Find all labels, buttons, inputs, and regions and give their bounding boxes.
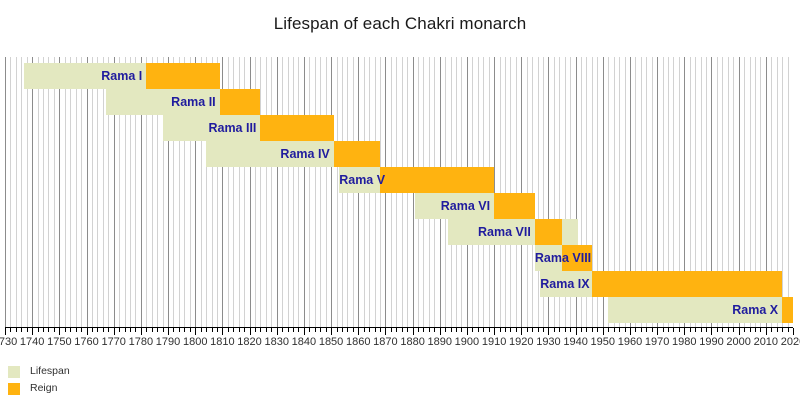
tick-minor (478, 328, 479, 332)
legend-item[interactable]: Reign (8, 380, 208, 397)
tick-major (766, 328, 767, 335)
tick-minor (750, 328, 751, 332)
lifespan-segment[interactable] (608, 297, 793, 323)
tick-minor (755, 328, 756, 332)
tick-major (358, 328, 359, 335)
tick-minor (48, 328, 49, 332)
plot-area: Rama IRama IIRama IIIRama IVRama VRama V… (5, 57, 793, 327)
tick-minor (179, 328, 180, 332)
tick-minor (65, 328, 66, 332)
tick-major (59, 328, 60, 335)
tick-minor (38, 328, 39, 332)
tick-minor (228, 328, 229, 332)
tick-label: 1880 (400, 336, 424, 348)
reign-segment[interactable] (334, 141, 380, 167)
tick-minor (668, 328, 669, 332)
tick-label: 1860 (346, 336, 370, 348)
tick-major (711, 328, 712, 335)
tick-label: 1760 (74, 336, 98, 348)
tick-label: 1970 (645, 336, 669, 348)
tick-major (467, 328, 468, 335)
tick-minor (364, 328, 365, 332)
tick-major (141, 328, 142, 335)
tick-minor (451, 328, 452, 332)
tick-label: 2000 (726, 336, 750, 348)
reign-segment[interactable] (562, 245, 592, 271)
tick-minor (135, 328, 136, 332)
tick-major (195, 328, 196, 335)
tick-minor (92, 328, 93, 332)
tick-minor (472, 328, 473, 332)
tick-label: 1930 (536, 336, 560, 348)
tick-label: 1850 (319, 336, 343, 348)
tick-minor (592, 328, 593, 332)
x-axis-tick-labels: 1730174017501760177017801790180018101820… (0, 336, 800, 352)
tick-label: 1980 (672, 336, 696, 348)
tick-minor (570, 328, 571, 332)
tick-label: 1940 (563, 336, 587, 348)
reign-segment[interactable] (146, 63, 219, 89)
tick-minor (423, 328, 424, 332)
tick-minor (76, 328, 77, 332)
legend-label: Reign (30, 380, 57, 397)
tick-minor (43, 328, 44, 332)
timeline-bar-row[interactable]: Rama IV (206, 141, 380, 167)
tick-label: 1740 (20, 336, 44, 348)
tick-minor (173, 328, 174, 332)
tick-minor (97, 328, 98, 332)
timeline-bar-row[interactable]: Rama VI (415, 193, 535, 219)
tick-minor (510, 328, 511, 332)
tick-label: 1910 (482, 336, 506, 348)
tick-minor (586, 328, 587, 332)
tick-minor (130, 328, 131, 332)
tick-minor (293, 328, 294, 332)
tick-major (250, 328, 251, 335)
tick-label: 1950 (591, 336, 615, 348)
tick-minor (690, 328, 691, 332)
tick-label: 1780 (129, 336, 153, 348)
legend-swatch (8, 383, 20, 395)
tick-minor (461, 328, 462, 332)
chart-title: Lifespan of each Chakri monarch (0, 14, 800, 34)
tick-minor (663, 328, 664, 332)
tick-minor (418, 328, 419, 332)
tick-minor (581, 328, 582, 332)
tick-label: 1890 (428, 336, 452, 348)
tick-minor (201, 328, 202, 332)
tick-minor (10, 328, 11, 332)
timeline-bar-row[interactable]: Rama III (163, 115, 334, 141)
tick-minor (271, 328, 272, 332)
reign-segment[interactable] (592, 271, 782, 297)
tick-minor (337, 328, 338, 332)
tick-minor (641, 328, 642, 332)
tick-label: 1920 (509, 336, 533, 348)
tick-minor (119, 328, 120, 332)
tick-minor (445, 328, 446, 332)
tick-minor (298, 328, 299, 332)
tick-minor (190, 328, 191, 332)
tick-minor (320, 328, 321, 332)
tick-minor (326, 328, 327, 332)
tick-minor (402, 328, 403, 332)
tick-major (684, 328, 685, 335)
reign-segment[interactable] (260, 115, 333, 141)
timeline-bar-row[interactable]: Rama I (24, 63, 220, 89)
tick-minor (722, 328, 723, 332)
legend-swatch (8, 366, 20, 378)
tick-minor (146, 328, 147, 332)
tick-minor (532, 328, 533, 332)
tick-minor (695, 328, 696, 332)
tick-minor (673, 328, 674, 332)
tick-major (277, 328, 278, 335)
tick-major (494, 328, 495, 335)
legend-item[interactable]: Lifespan (8, 363, 208, 380)
tick-minor (282, 328, 283, 332)
tick-major (385, 328, 386, 335)
tick-label: 1830 (264, 336, 288, 348)
tick-major (413, 328, 414, 335)
tick-minor (505, 328, 506, 332)
tick-minor (309, 328, 310, 332)
tick-minor (255, 328, 256, 332)
tick-minor (679, 328, 680, 332)
tick-label: 1800 (183, 336, 207, 348)
tick-label: 1840 (292, 336, 316, 348)
tick-minor (233, 328, 234, 332)
tick-label: 2020 (781, 336, 800, 348)
tick-minor (315, 328, 316, 332)
tick-minor (777, 328, 778, 332)
timeline-bar-row[interactable]: Rama IX (540, 271, 782, 297)
tick-major (5, 328, 6, 335)
tick-minor (565, 328, 566, 332)
tick-minor (103, 328, 104, 332)
tick-minor (152, 328, 153, 332)
tick-major (576, 328, 577, 335)
tick-major (331, 328, 332, 335)
tick-minor (483, 328, 484, 332)
timeline-bar-row[interactable]: Rama V (339, 167, 494, 193)
tick-minor (81, 328, 82, 332)
tick-minor (260, 328, 261, 332)
tick-minor (760, 328, 761, 332)
reign-segment[interactable] (220, 89, 261, 115)
tick-minor (652, 328, 653, 332)
tick-minor (125, 328, 126, 332)
tick-minor (212, 328, 213, 332)
tick-label: 1900 (455, 336, 479, 348)
chart-legend: LifespanReign (8, 363, 208, 397)
timeline-bar-row[interactable]: Rama X (608, 297, 793, 323)
timeline-bar-row[interactable]: Rama VII (448, 219, 578, 245)
timeline-bar-row[interactable]: Rama II (106, 89, 261, 115)
tick-minor (244, 328, 245, 332)
tick-major (603, 328, 604, 335)
tick-minor (744, 328, 745, 332)
tick-major (630, 328, 631, 335)
tick-minor (527, 328, 528, 332)
tick-minor (429, 328, 430, 332)
tick-minor (375, 328, 376, 332)
tick-minor (434, 328, 435, 332)
tick-major (114, 328, 115, 335)
tick-minor (701, 328, 702, 332)
tick-minor (733, 328, 734, 332)
tick-label: 1960 (618, 336, 642, 348)
tick-label: 1790 (156, 336, 180, 348)
tick-minor (559, 328, 560, 332)
tick-minor (782, 328, 783, 332)
tick-label: 1810 (210, 336, 234, 348)
tick-label: 1820 (237, 336, 261, 348)
tick-minor (635, 328, 636, 332)
tick-minor (54, 328, 55, 332)
tick-minor (380, 328, 381, 332)
tick-label: 1750 (47, 336, 71, 348)
tick-minor (619, 328, 620, 332)
tick-minor (728, 328, 729, 332)
tick-label: 1730 (0, 336, 17, 348)
tick-minor (614, 328, 615, 332)
reign-segment[interactable] (782, 297, 793, 323)
tick-minor (239, 328, 240, 332)
tick-minor (456, 328, 457, 332)
tick-minor (396, 328, 397, 332)
tick-minor (538, 328, 539, 332)
tick-minor (407, 328, 408, 332)
tick-minor (625, 328, 626, 332)
tick-minor (288, 328, 289, 332)
tick-minor (266, 328, 267, 332)
tick-major (657, 328, 658, 335)
reign-segment[interactable] (494, 193, 535, 219)
tick-minor (206, 328, 207, 332)
tick-major (548, 328, 549, 335)
tick-minor (16, 328, 17, 332)
timeline-bar-row[interactable]: Rama VIII (535, 245, 592, 271)
tick-minor (554, 328, 555, 332)
tick-minor (21, 328, 22, 332)
tick-minor (500, 328, 501, 332)
tick-major (168, 328, 169, 335)
tick-minor (771, 328, 772, 332)
reign-segment[interactable] (535, 219, 562, 245)
tick-minor (717, 328, 718, 332)
tick-minor (217, 328, 218, 332)
tick-major (222, 328, 223, 335)
tick-minor (184, 328, 185, 332)
tick-minor (342, 328, 343, 332)
tick-minor (353, 328, 354, 332)
tick-minor (597, 328, 598, 332)
tick-major (304, 328, 305, 335)
tick-minor (646, 328, 647, 332)
tick-minor (347, 328, 348, 332)
tick-minor (157, 328, 158, 332)
x-axis-ticks (5, 328, 793, 336)
tick-minor (543, 328, 544, 332)
tick-major (521, 328, 522, 335)
tick-minor (516, 328, 517, 332)
tick-minor (163, 328, 164, 332)
tick-label: 1990 (699, 336, 723, 348)
tick-major (440, 328, 441, 335)
tick-major (739, 328, 740, 335)
tick-minor (369, 328, 370, 332)
tick-minor (70, 328, 71, 332)
tick-minor (391, 328, 392, 332)
tick-label: 1870 (373, 336, 397, 348)
tick-label: 1770 (101, 336, 125, 348)
reign-segment[interactable] (380, 167, 494, 193)
tick-major (87, 328, 88, 335)
tick-minor (788, 328, 789, 332)
timeline-chart: Lifespan of each Chakri monarch Rama IRa… (0, 0, 800, 400)
tick-minor (706, 328, 707, 332)
tick-label: 2010 (754, 336, 778, 348)
tick-major (793, 328, 794, 335)
tick-minor (489, 328, 490, 332)
tick-minor (108, 328, 109, 332)
legend-label: Lifespan (30, 363, 70, 380)
bars-layer: Rama IRama IIRama IIIRama IVRama VRama V… (5, 57, 793, 327)
tick-major (32, 328, 33, 335)
tick-minor (608, 328, 609, 332)
tick-minor (27, 328, 28, 332)
